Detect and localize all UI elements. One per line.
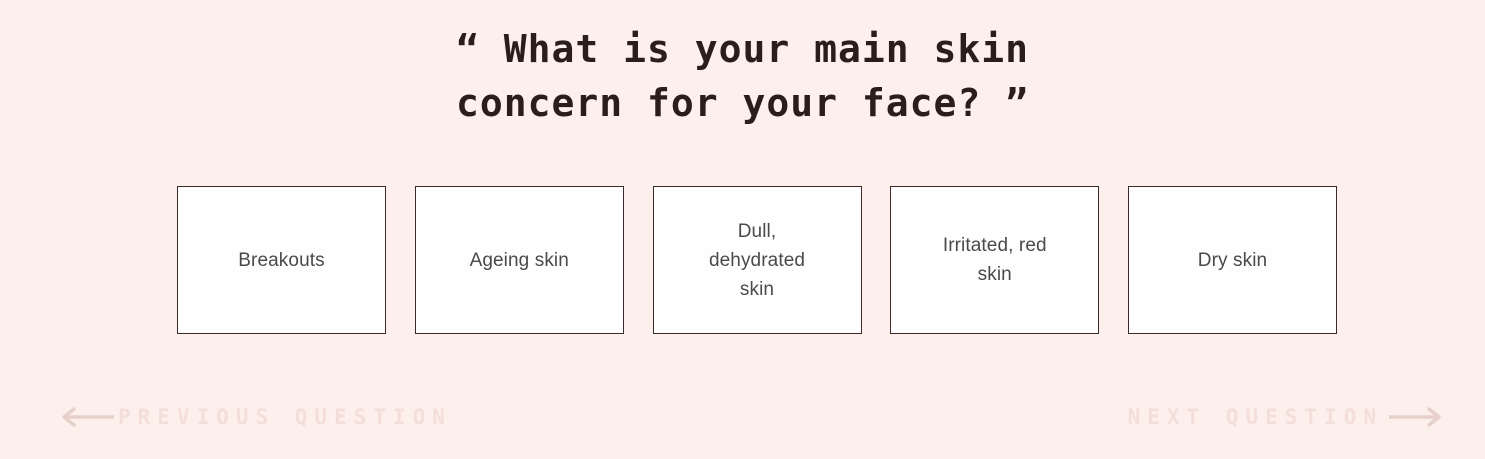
option-card-irritated-red-skin[interactable]: Irritated, red skin [890,186,1099,334]
option-card-breakouts[interactable]: Breakouts [177,186,386,334]
option-label: Irritated, red skin [943,231,1047,289]
page-title: “ What is your main skin concern for you… [0,22,1485,130]
previous-question-button[interactable]: PREVIOUS QUESTION [60,405,452,429]
previous-question-label: PREVIOUS QUESTION [118,405,452,429]
option-card-dull-dehydrated-skin[interactable]: Dull, dehydrated skin [653,186,862,334]
next-question-label: NEXT QUESTION [1128,405,1383,429]
arrow-left-icon [60,406,116,428]
option-label: Dull, dehydrated skin [709,217,805,304]
arrow-right-icon [1387,406,1443,428]
next-question-button[interactable]: NEXT QUESTION [1128,405,1443,429]
option-label: Breakouts [238,246,324,275]
quiz-navigation: PREVIOUS QUESTION NEXT QUESTION [0,400,1485,446]
options-list: Breakouts Ageing skin Dull, dehydrated s… [177,186,1337,334]
option-card-dry-skin[interactable]: Dry skin [1128,186,1337,334]
option-label: Ageing skin [470,246,569,275]
option-label: Dry skin [1198,246,1267,275]
option-card-ageing-skin[interactable]: Ageing skin [415,186,624,334]
